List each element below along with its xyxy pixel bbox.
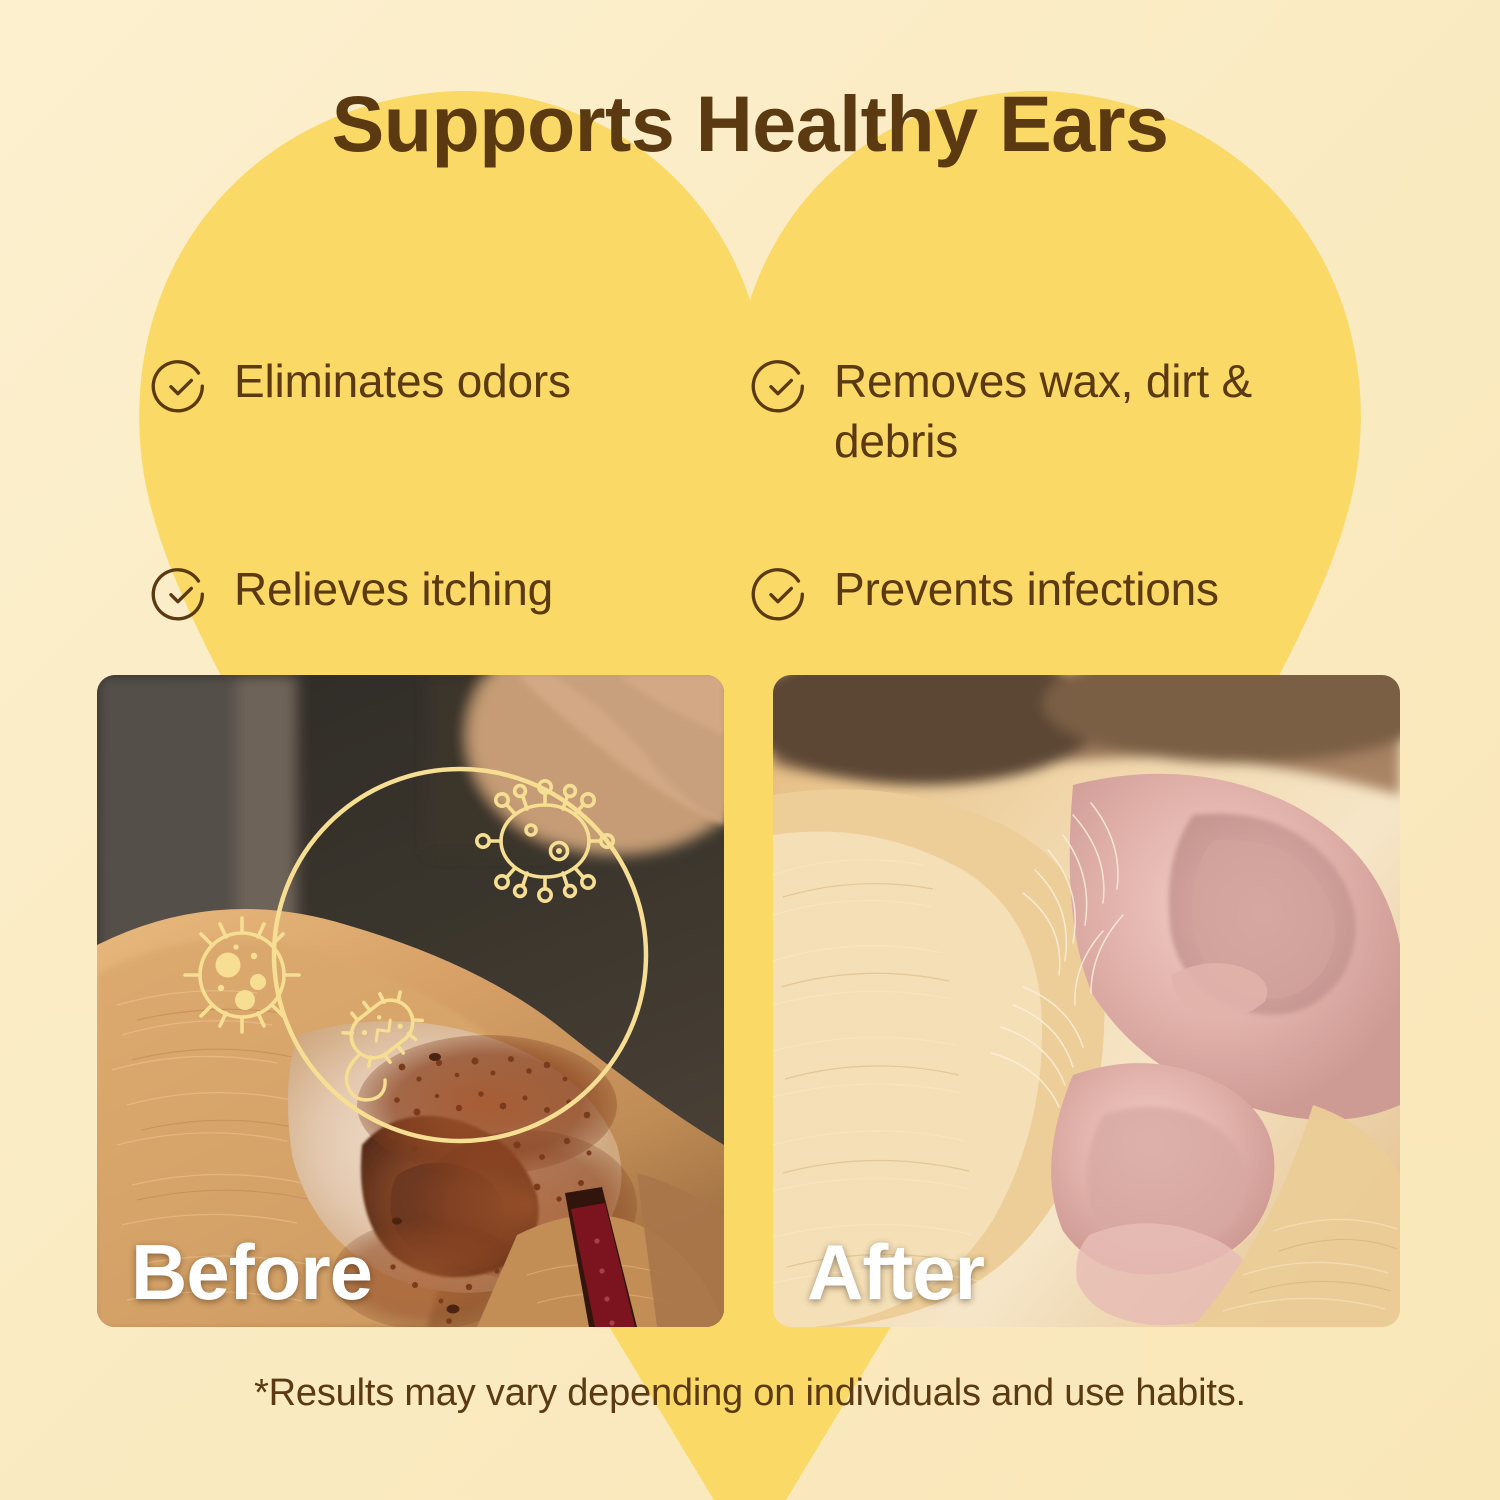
benefit-label: Prevents infections — [834, 560, 1219, 620]
before-photo-panel: Before — [97, 675, 724, 1327]
check-circle-icon — [150, 356, 212, 418]
page-title: Supports Healthy Ears — [0, 84, 1500, 163]
benefit-item-eliminates-odors: Eliminates odors — [150, 352, 750, 472]
benefit-item-prevents-infections: Prevents infections — [750, 560, 1370, 626]
after-photo-panel: After — [773, 675, 1400, 1327]
benefit-label: Relieves itching — [234, 560, 553, 620]
check-circle-icon — [750, 564, 812, 626]
benefit-label: Eliminates odors — [234, 352, 571, 412]
results-disclaimer: *Results may vary depending on individua… — [0, 1372, 1500, 1415]
check-circle-icon — [150, 564, 212, 626]
before-caption: Before — [131, 1233, 372, 1311]
benefit-item-relieves-itching: Relieves itching — [150, 560, 750, 626]
benefit-label: Removes wax, dirt & debris — [834, 352, 1370, 472]
check-circle-icon — [750, 356, 812, 418]
infographic-canvas: Supports Healthy Ears Eliminates odors R… — [0, 0, 1500, 1500]
benefits-list: Eliminates odors Removes wax, dirt & deb… — [150, 352, 1370, 626]
after-caption: After — [807, 1233, 984, 1311]
benefit-item-removes-wax-dirt-debris: Removes wax, dirt & debris — [750, 352, 1370, 472]
